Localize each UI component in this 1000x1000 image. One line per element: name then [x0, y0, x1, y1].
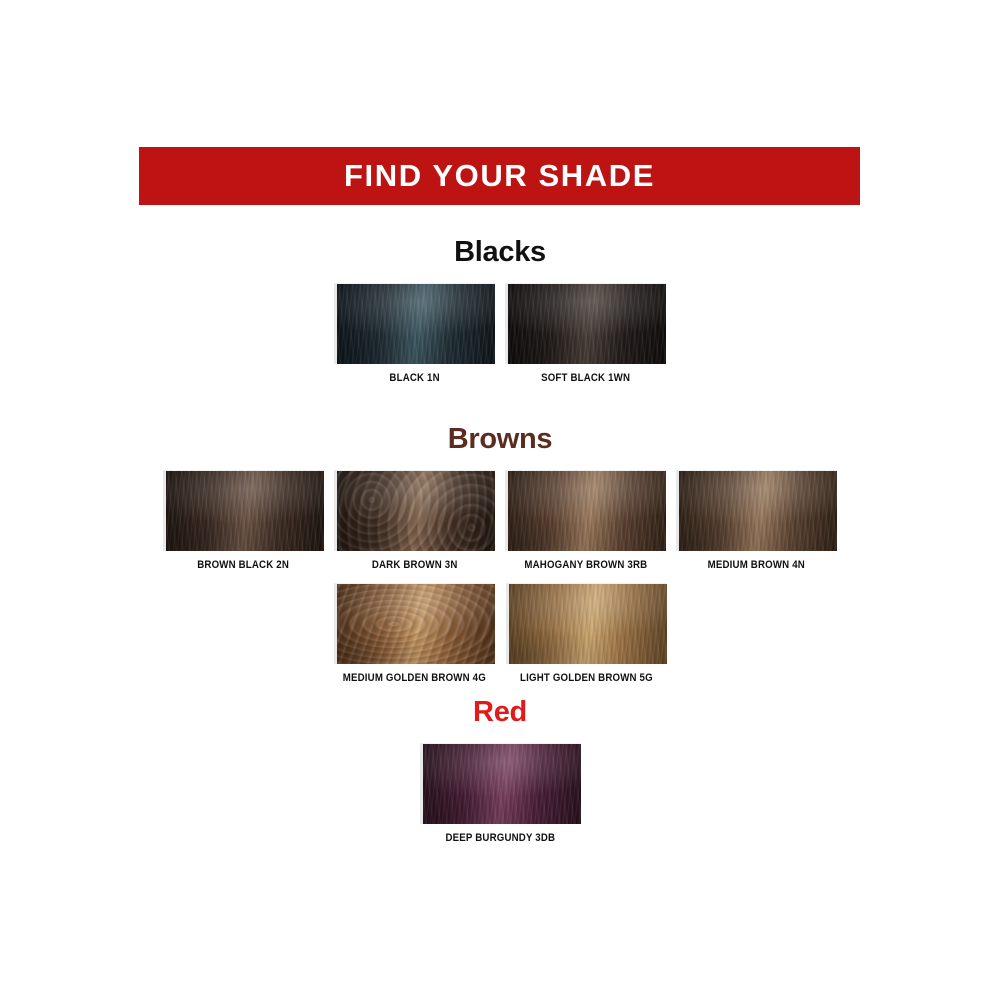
shade-swatch-cell[interactable]: MAHOGANY BROWN 3RB: [505, 470, 666, 571]
hair-swatch-image[interactable]: [676, 470, 837, 551]
hair-swatch-image[interactable]: [420, 743, 581, 824]
hair-swatch-image[interactable]: [334, 583, 495, 664]
shade-name-label: MAHOGANY BROWN 3RB: [524, 559, 647, 571]
section-red: RedDEEP BURGUNDY 3DB: [0, 698, 1000, 844]
hair-texture-overlay: [163, 470, 324, 551]
swatch-row: DEEP BURGUNDY 3DB: [0, 743, 1000, 844]
shade-name-label: DARK BROWN 3N: [372, 559, 458, 571]
shade-name-label: BROWN BLACK 2N: [198, 559, 290, 571]
section-title-browns: Browns: [0, 425, 1000, 454]
swatch-row: MEDIUM GOLDEN BROWN 4GLIGHT GOLDEN BROWN…: [0, 583, 1000, 684]
hair-swatch-image[interactable]: [163, 470, 324, 551]
shade-name-label: SOFT BLACK 1WN: [541, 372, 630, 384]
page-title: FIND YOUR SHADE: [344, 158, 655, 194]
shade-swatch-cell[interactable]: LIGHT GOLDEN BROWN 5G: [506, 583, 667, 684]
swatch-row: BLACK 1NSOFT BLACK 1WN: [0, 283, 1000, 384]
hair-swatch-image[interactable]: [506, 583, 667, 664]
shade-swatch-cell[interactable]: BLACK 1N: [334, 283, 495, 384]
hair-texture-overlay: [420, 743, 581, 824]
hair-texture-overlay: [334, 583, 495, 664]
hair-swatch-image[interactable]: [334, 283, 495, 364]
hair-texture-overlay: [334, 470, 495, 551]
section-blacks: BlacksBLACK 1NSOFT BLACK 1WN: [0, 238, 1000, 384]
section-title-red: Red: [0, 698, 1000, 727]
shade-name-label: MEDIUM BROWN 4N: [708, 559, 805, 571]
shade-name-label: BLACK 1N: [389, 372, 439, 384]
shade-swatch-cell[interactable]: BROWN BLACK 2N: [163, 470, 324, 571]
hair-swatch-image[interactable]: [334, 470, 495, 551]
shade-name-label: LIGHT GOLDEN BROWN 5G: [520, 672, 653, 684]
hair-texture-overlay: [334, 283, 495, 364]
shade-name-label: MEDIUM GOLDEN BROWN 4G: [343, 672, 486, 684]
shade-name-label: DEEP BURGUNDY 3DB: [445, 832, 555, 844]
section-title-blacks: Blacks: [0, 238, 1000, 267]
shade-swatch-cell[interactable]: MEDIUM GOLDEN BROWN 4G: [333, 583, 496, 684]
shade-swatch-cell[interactable]: DARK BROWN 3N: [334, 470, 495, 571]
swatch-row: BROWN BLACK 2NDARK BROWN 3NMAHOGANY BROW…: [0, 470, 1000, 571]
section-browns: BrownsBROWN BLACK 2NDARK BROWN 3NMAHOGAN…: [0, 425, 1000, 684]
hair-texture-overlay: [676, 470, 837, 551]
hair-texture-overlay: [506, 583, 667, 664]
shade-swatch-cell[interactable]: MEDIUM BROWN 4N: [676, 470, 837, 571]
hair-texture-overlay: [505, 283, 666, 364]
hair-swatch-image[interactable]: [505, 283, 666, 364]
shade-swatch-cell[interactable]: DEEP BURGUNDY 3DB: [420, 743, 581, 844]
shade-swatch-cell[interactable]: SOFT BLACK 1WN: [505, 283, 666, 384]
find-your-shade-banner: FIND YOUR SHADE: [139, 147, 860, 205]
hair-texture-overlay: [505, 470, 666, 551]
hair-swatch-image[interactable]: [505, 470, 666, 551]
